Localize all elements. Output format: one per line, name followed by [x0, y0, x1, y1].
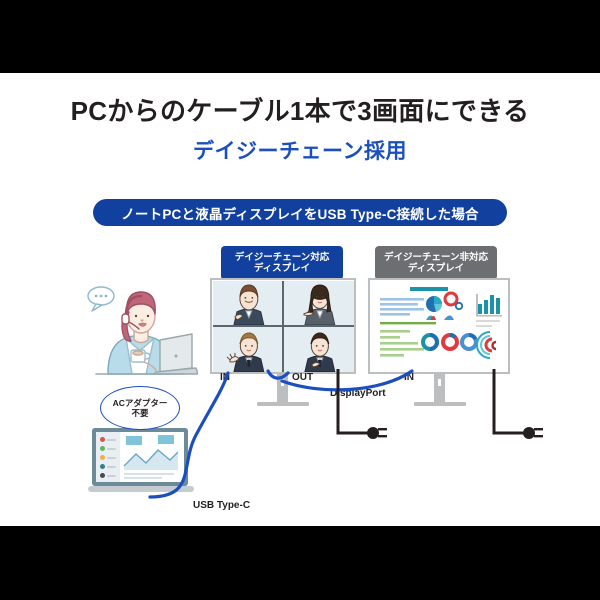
- sidebar-line-2: [107, 448, 116, 450]
- label-daisy-chain-supported: デイジーチェーン対応 ディスプレイ: [221, 246, 343, 280]
- port-label-left-in: IN: [220, 372, 230, 383]
- illustration-canvas: PCからのケーブル1本で3画面にできる デイジーチェーン採用 ノートPCと液晶デ…: [0, 73, 600, 526]
- monitor-daisy-chain-unsupported: [368, 278, 510, 374]
- video-participant-4: [284, 327, 354, 372]
- sidebar-line-1: [107, 439, 116, 441]
- ac-adapter-bubble-line2: 不要: [131, 408, 148, 418]
- sidebar-line-4: [107, 466, 116, 468]
- label-daisy-chain-unsupported-line1: デイジーチェーン非対応: [384, 252, 488, 263]
- sidebar-dot-3: [100, 455, 105, 460]
- participant-man-waving-icon: [213, 327, 283, 372]
- monitor-daisy-chain-supported: [210, 278, 356, 374]
- video-participant-3: [213, 327, 283, 372]
- monitor-left-stand-hole: [280, 378, 285, 387]
- power-plug-right-monitor: [523, 427, 543, 439]
- ac-adapter-bubble-line1: ACアダプター: [113, 398, 168, 408]
- participant-woman-long-hair-icon: [284, 281, 354, 326]
- laptop-lid: [92, 428, 188, 486]
- label-daisy-chain-supported-line2: ディスプレイ: [254, 263, 310, 274]
- sidebar-dot-4: [100, 464, 105, 469]
- port-label-left-out: OUT: [292, 372, 313, 383]
- sidebar-dot-2: [100, 446, 105, 451]
- scenario-banner: ノートPCと液晶ディスプレイをUSB Type-C接続した場合: [93, 199, 507, 226]
- laptop-device: [88, 428, 194, 500]
- screenshot-stage: PCからのケーブル1本で3画面にできる デイジーチェーン採用 ノートPCと液晶デ…: [0, 0, 600, 600]
- participant-woman-short-hair-icon: [213, 281, 283, 326]
- cable-label-displayport: DisplayPort: [330, 388, 386, 399]
- scenario-banner-text: ノートPCと液晶ディスプレイをUSB Type-C接続した場合: [121, 203, 479, 223]
- cable-label-usb-type-c: USB Type-C: [193, 500, 250, 511]
- power-cord-right-monitor: [494, 369, 524, 433]
- label-daisy-chain-unsupported-line2: ディスプレイ: [408, 263, 464, 274]
- laptop-base: [88, 486, 194, 492]
- page-subtitle: デイジーチェーン採用: [0, 135, 600, 165]
- sidebar-dot-1: [100, 437, 105, 442]
- label-daisy-chain-supported-line1: デイジーチェーン対応: [235, 252, 330, 263]
- dashboard-charts-icon: [372, 282, 506, 370]
- power-cord-left-monitor: [338, 369, 368, 433]
- participant-man-icon: [284, 327, 354, 372]
- laptop-screen: [96, 432, 184, 482]
- dashboard-content: [372, 282, 506, 370]
- monitor-right-stand-base: [414, 402, 466, 406]
- monitor-right-stand-hole: [437, 378, 442, 387]
- video-participant-2: [284, 281, 354, 326]
- sidebar-dot-5: [100, 473, 105, 478]
- sidebar-line-5: [107, 475, 116, 477]
- page-title-text: PCからのケーブル1本で3画面にできる: [71, 96, 530, 126]
- video-conference-grid: [213, 281, 354, 372]
- person-with-headset-illustration: [78, 278, 198, 378]
- power-plug-left-monitor: [367, 427, 387, 439]
- monitor-left-stand-base: [257, 402, 309, 406]
- ac-adapter-bubble: ACアダプター 不要: [100, 386, 180, 430]
- page-title: PCからのケーブル1本で3画面にできる: [0, 91, 600, 128]
- video-participant-1: [213, 281, 283, 326]
- label-daisy-chain-unsupported: デイジーチェーン非対応 ディスプレイ: [375, 246, 497, 280]
- line-chart-icon: [120, 432, 184, 482]
- sidebar-line-3: [107, 457, 116, 459]
- port-label-right-in: IN: [404, 372, 414, 383]
- laptop-line-chart: [120, 432, 184, 482]
- woman-headset-laptop-icon: [78, 278, 198, 378]
